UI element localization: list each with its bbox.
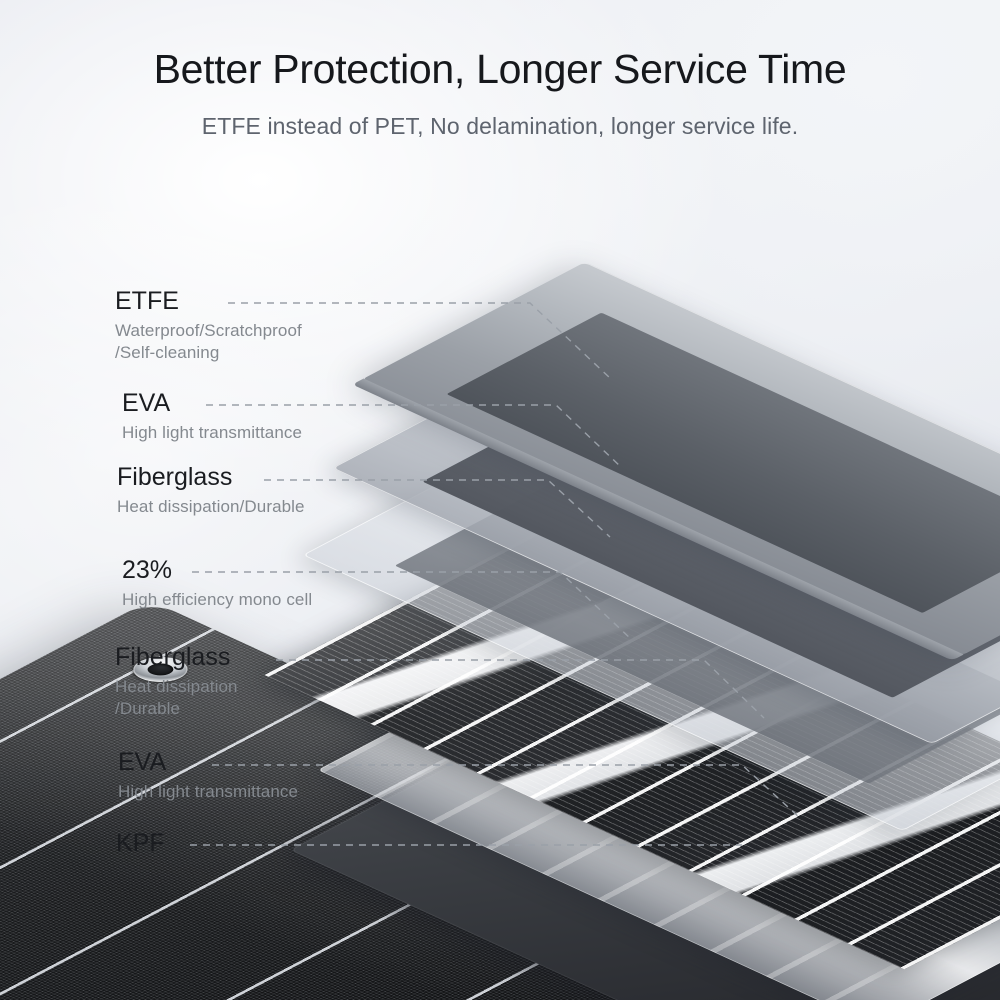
callout-eva-top-sub-line-1: High light transmittance bbox=[122, 422, 302, 445]
callout-efficiency: 23% High efficiency mono cell bbox=[122, 557, 312, 611]
callout-eva-top-title: EVA bbox=[122, 390, 302, 417]
callout-etfe: ETFE Waterproof/Scratchproof /Self-clean… bbox=[115, 288, 302, 365]
callout-fiberglass-bottom-sub: Heat dissipation /Durable bbox=[115, 676, 238, 721]
callout-fiberglass-bottom-title: Fiberglass bbox=[115, 644, 238, 671]
callout-kpf-title: KPF bbox=[116, 830, 165, 857]
callout-etfe-title: ETFE bbox=[115, 288, 302, 315]
callout-etfe-sub: Waterproof/Scratchproof /Self-cleaning bbox=[115, 320, 302, 365]
callout-etfe-sub-line-2: /Self-cleaning bbox=[115, 342, 302, 365]
callout-eva-bottom: EVA High light transmittance bbox=[118, 749, 298, 803]
callout-fiberglass-bottom-sub-line-1: Heat dissipation bbox=[115, 676, 238, 699]
callout-eva-top-sub: High light transmittance bbox=[122, 422, 302, 445]
callout-etfe-sub-line-1: Waterproof/Scratchproof bbox=[115, 320, 302, 343]
callout-fiberglass-bottom: Fiberglass Heat dissipation /Durable bbox=[115, 644, 238, 721]
callout-efficiency-title: 23% bbox=[122, 557, 312, 584]
callout-fiberglass-top-title: Fiberglass bbox=[117, 464, 305, 491]
callout-eva-bottom-sub-line-1: High light transmittance bbox=[118, 781, 298, 804]
callout-efficiency-sub-line-1: High efficiency mono cell bbox=[122, 589, 312, 612]
callout-fiberglass-top: Fiberglass Heat dissipation/Durable bbox=[117, 464, 305, 518]
callout-kpf: KPF bbox=[116, 830, 165, 857]
callout-fiberglass-bottom-sub-line-2: /Durable bbox=[115, 698, 238, 721]
callout-eva-top: EVA High light transmittance bbox=[122, 390, 302, 444]
callout-fiberglass-top-sub-line-1: Heat dissipation/Durable bbox=[117, 496, 305, 519]
callout-eva-bottom-sub: High light transmittance bbox=[118, 781, 298, 804]
callout-fiberglass-top-sub: Heat dissipation/Durable bbox=[117, 496, 305, 519]
callout-efficiency-sub: High efficiency mono cell bbox=[122, 589, 312, 612]
callout-eva-bottom-title: EVA bbox=[118, 749, 298, 776]
